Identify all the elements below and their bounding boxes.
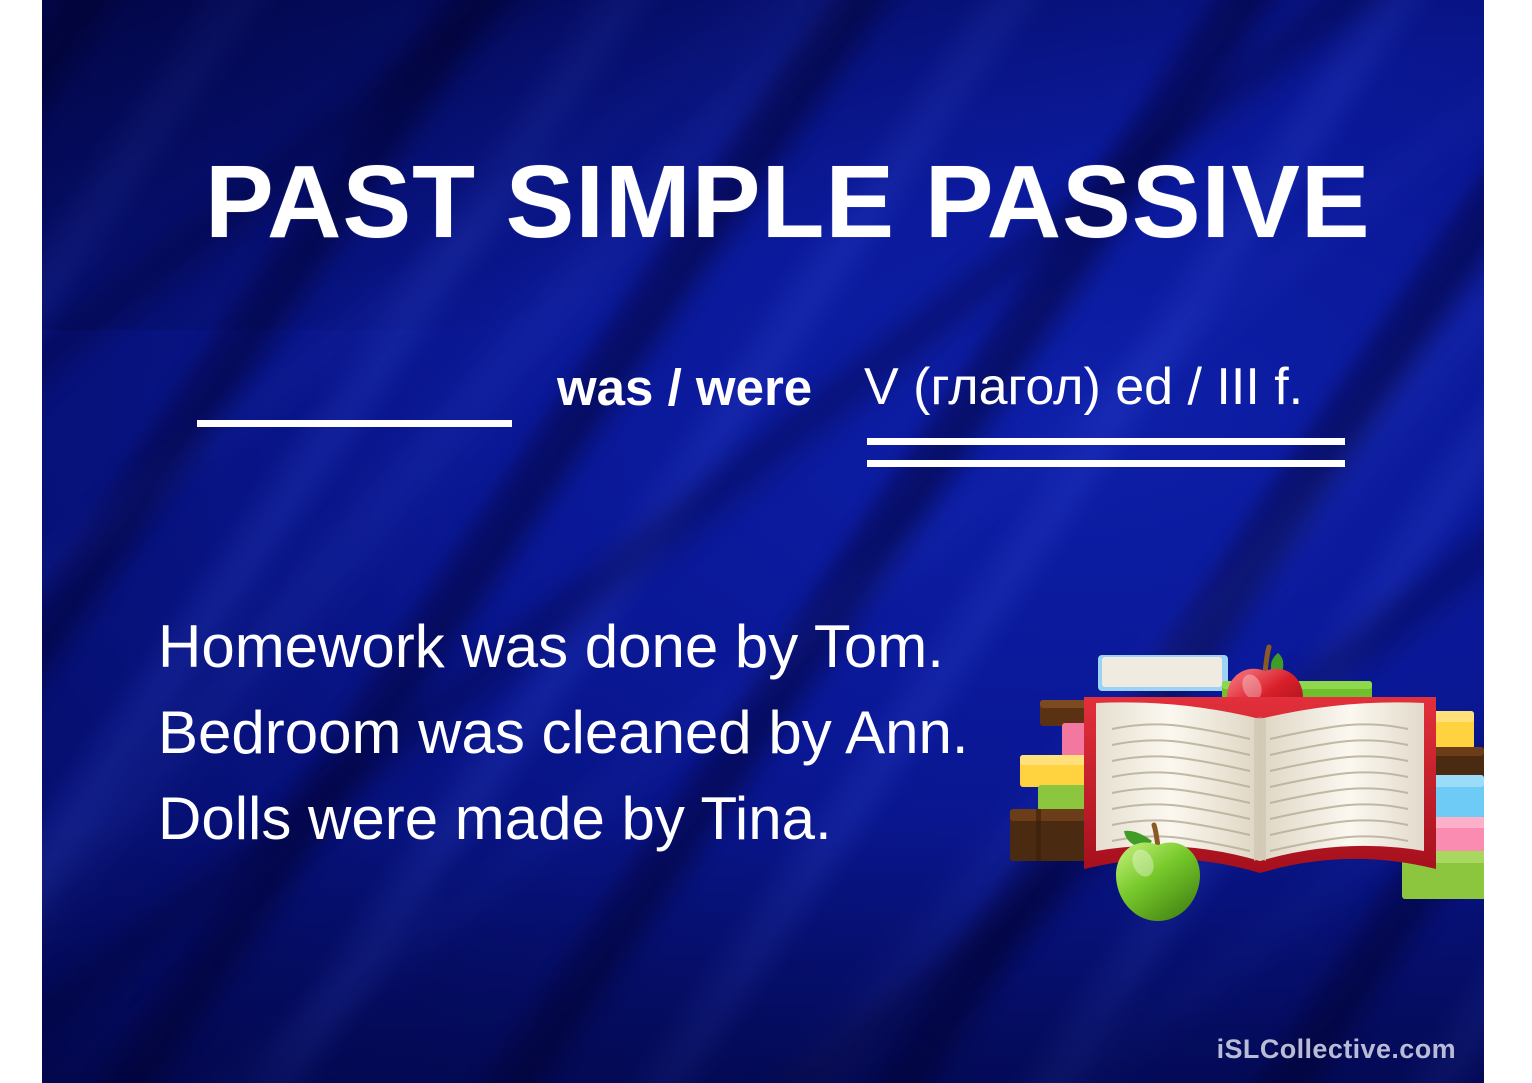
slide-content: PAST SIMPLE PASSIVE was / were V (глагол… <box>42 0 1484 1083</box>
example-sentence: Bedroom was cleaned by Ann. <box>158 690 1038 776</box>
passive-formula: was / were V (глагол) ed / III f. <box>152 358 1432 488</box>
verb-double-underline-top <box>867 438 1345 445</box>
slide-page: PAST SIMPLE PASSIVE was / were V (глагол… <box>0 0 1532 1083</box>
verb-form-label: V (глагол) ed / III f. <box>864 357 1303 417</box>
slide-title: PAST SIMPLE PASSIVE <box>205 148 1371 256</box>
islcollective-watermark: iSLCollective.com <box>1217 1034 1456 1065</box>
verb-double-underline-bottom <box>867 460 1345 467</box>
auxiliary-verb-label: was / were <box>557 358 812 417</box>
slide-canvas: PAST SIMPLE PASSIVE was / were V (глагол… <box>42 0 1484 1083</box>
example-sentences: Homework was done by Tom. Bedroom was cl… <box>158 604 1038 862</box>
open-book-illustration <box>1010 595 1484 935</box>
example-sentence: Dolls were made by Tina. <box>158 776 1038 862</box>
example-sentence: Homework was done by Tom. <box>158 604 1038 690</box>
subject-blank-underline <box>197 420 512 427</box>
